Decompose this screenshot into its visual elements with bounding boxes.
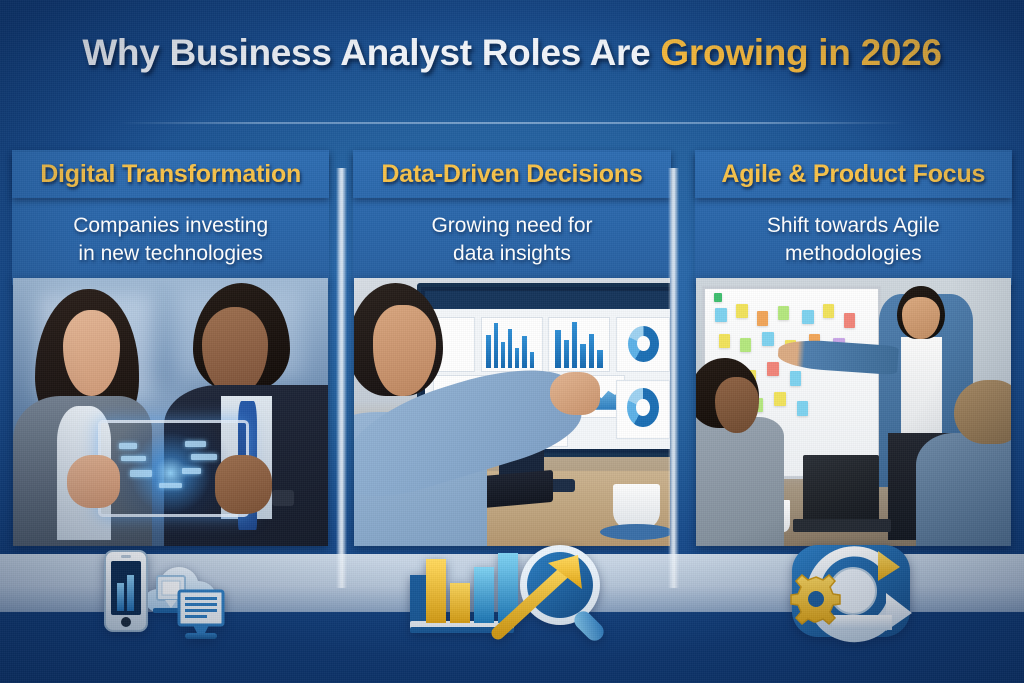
column-photo-business-duo-tablet (13, 278, 328, 546)
subtitle-line-1: Companies investing (26, 212, 316, 240)
column-subtitle: Companies investing in new technologies (26, 212, 316, 268)
title-accent-text: Growing in 2026 (660, 32, 941, 73)
title-main-text: Why Business Analyst Roles Are (82, 32, 660, 73)
column-agile-product-focus[interactable]: Agile & Product Focus Shift towards Agil… (683, 150, 1024, 560)
column-banner: Data-Driven Decisions (353, 152, 670, 198)
column-banner-label: Digital Transformation (18, 160, 323, 189)
subtitle-line-1: Growing need for (367, 212, 657, 240)
subtitle-line-2: data insights (367, 240, 657, 268)
subtitle-line-2: methodologies (708, 240, 998, 268)
infographic-poster: Why Business Analyst Roles Are Growing i… (0, 0, 1024, 683)
page-title: Why Business Analyst Roles Are Growing i… (82, 32, 941, 74)
column-divider-1 (336, 168, 347, 588)
title-divider (118, 122, 906, 124)
icon-row (0, 536, 1024, 646)
subtitle-line-1: Shift towards Agile (708, 212, 998, 240)
column-divider-2 (668, 168, 679, 588)
cloud-devices-icon (91, 539, 251, 643)
columns-container: Digital Transformation Companies investi… (0, 150, 1024, 560)
icon-cell-2 (341, 536, 682, 646)
column-banner-label: Data-Driven Decisions (359, 160, 664, 189)
column-subtitle: Growing need for data insights (367, 212, 657, 268)
subtitle-line-2: in new technologies (26, 240, 316, 268)
column-banner-label: Agile & Product Focus (701, 160, 1006, 189)
column-banner: Digital Transformation (12, 152, 329, 198)
column-photo-agile-standup (696, 278, 1011, 546)
icon-cell-1 (0, 536, 341, 646)
icon-cell-3 (683, 536, 1024, 646)
column-photo-analyst-dashboard (354, 278, 669, 546)
column-banner: Agile & Product Focus (695, 152, 1012, 198)
bar-chart-magnifier-icon (402, 537, 622, 645)
column-digital-transformation[interactable]: Digital Transformation Companies investi… (0, 150, 341, 560)
agile-cycle-gear-icon (778, 537, 928, 645)
column-subtitle: Shift towards Agile methodologies (708, 212, 998, 268)
title-area: Why Business Analyst Roles Are Growing i… (0, 32, 1024, 74)
column-data-driven-decisions[interactable]: Data-Driven Decisions Growing need for d… (341, 150, 682, 560)
